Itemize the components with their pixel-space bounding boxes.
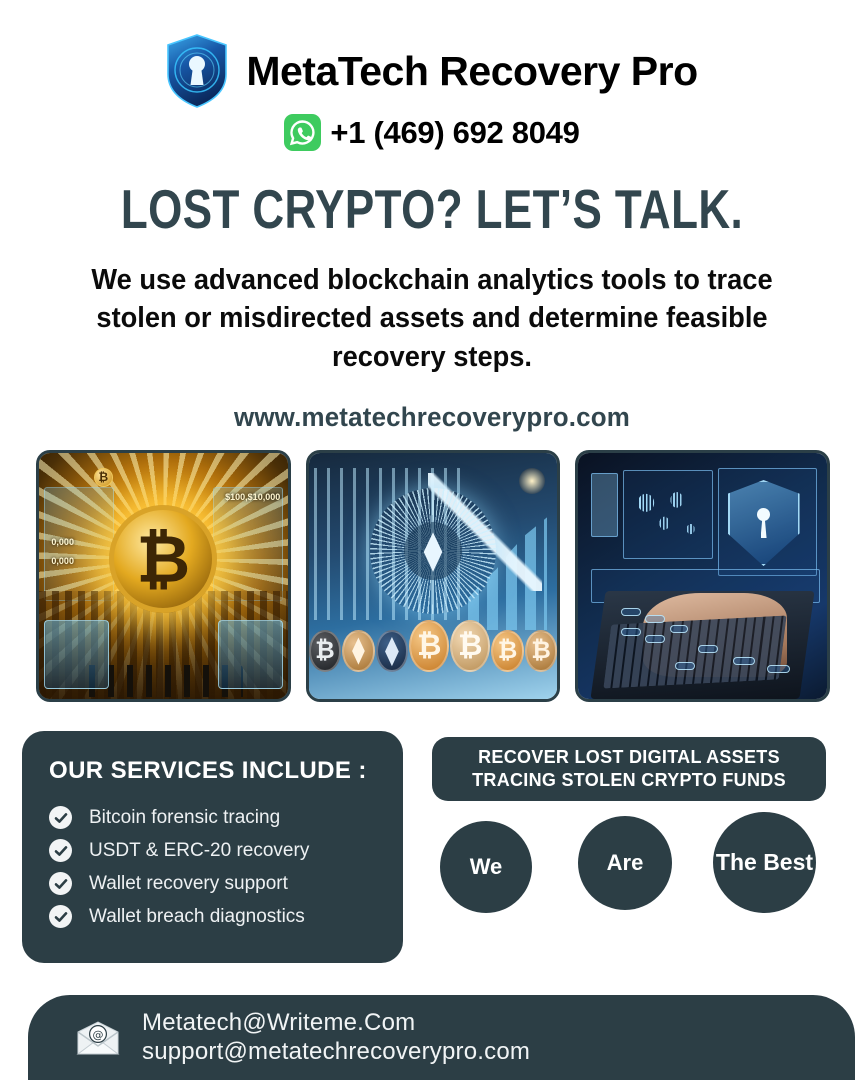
website-url[interactable]: www.metatechrecoverypro.com <box>17 402 846 433</box>
hero-subheading: We use advanced blockchain analytics too… <box>75 261 789 377</box>
price-tag-label: $100,$10,000 <box>225 492 280 502</box>
whatsapp-icon[interactable] <box>284 114 321 151</box>
check-circle-icon <box>49 872 72 895</box>
cybersecurity-scene <box>578 453 827 699</box>
coin-icon: ₿ <box>450 620 490 672</box>
list-item: Wallet recovery support <box>49 872 403 895</box>
service-label: Wallet recovery support <box>89 873 288 895</box>
services-list: Bitcoin forensic tracing USDT & ERC-20 r… <box>49 806 403 928</box>
brand-header: MetaTech Recovery Pro <box>0 0 864 108</box>
banner-line-2: TRACING STOLEN CRYPTO FUNDS <box>472 770 786 791</box>
network-node <box>767 665 789 673</box>
arrow-glow <box>519 468 545 494</box>
poster-root: MetaTech Recovery Pro +1 (469) 692 8049 … <box>0 0 864 1080</box>
network-node <box>621 608 641 616</box>
footer-email-primary[interactable]: Metatech@Writeme.Com <box>142 1009 530 1037</box>
ethereum-digital-ring: ⧫ <box>370 488 496 614</box>
ticker-value-top: 0,000 <box>51 537 74 547</box>
check-circle-icon <box>49 839 72 862</box>
world-map-icon <box>629 478 706 551</box>
world-map-panel <box>623 470 713 559</box>
coin-icon: ₿ <box>409 620 449 672</box>
list-item: USDT & ERC-20 recovery <box>49 839 403 862</box>
footer-contact-bar: @ Metatech@Writeme.Com support@metatechr… <box>28 995 855 1080</box>
check-circle-icon <box>49 806 72 829</box>
network-node <box>675 662 695 670</box>
coin-icon: ₿ <box>491 630 524 672</box>
hero-headline: LOST CRYPTO? LET’S TALK. <box>86 181 777 239</box>
keyhole-glyph <box>756 508 771 538</box>
network-node <box>645 615 665 623</box>
badge-circle-are: Are <box>578 816 672 910</box>
service-label: Bitcoin forensic tracing <box>89 807 280 829</box>
list-item: Bitcoin forensic tracing <box>49 806 403 829</box>
services-title: OUR SERVICES INCLUDE : <box>49 757 403 785</box>
ethereum-symbol-icon: ⧫ <box>404 522 462 580</box>
glass-panel-right <box>218 620 283 689</box>
badge-circle-the-best: The Best <box>713 812 816 913</box>
network-node <box>733 657 755 665</box>
check-circle-icon <box>49 905 72 928</box>
svg-text:@: @ <box>93 1028 104 1041</box>
hud-panel-right <box>213 487 283 600</box>
list-item: Wallet breach diagnostics <box>49 905 403 928</box>
bitcoin-coin-icon: ₿ <box>109 505 217 613</box>
gallery-image-cybersecurity-laptop <box>575 450 830 702</box>
mini-bitcoin-icon: ₿ <box>94 468 113 487</box>
phone-contact-row[interactable]: +1 (469) 692 8049 <box>0 114 864 151</box>
network-node <box>645 635 665 643</box>
service-label: USDT & ERC-20 recovery <box>89 840 309 862</box>
badge-circle-we: We <box>440 821 532 913</box>
network-node <box>670 625 687 633</box>
keyboard-icon <box>604 616 787 689</box>
tagline-banner: RECOVER LOST DIGITAL ASSETS TRACING STOL… <box>432 737 826 801</box>
coin-icon: ₿ <box>525 630 558 672</box>
gallery-image-bitcoin-golden-city: ₿ ₿ 0,000 0,000 $100,$10,000 <box>36 450 291 702</box>
banner-line-1: RECOVER LOST DIGITAL ASSETS <box>478 747 780 768</box>
network-node <box>621 628 641 636</box>
service-label: Wallet breach diagnostics <box>89 906 305 928</box>
golden-bitcoin-scene: ₿ ₿ 0,000 0,000 $100,$10,000 <box>39 453 288 699</box>
gallery-image-ethereum-trading-chart: ⧫ ₿ ⧫ ⧫ ₿ ₿ ₿ ₿ <box>306 450 561 702</box>
ticker-value-bottom: 0,000 <box>51 556 74 566</box>
coin-icon: ⧫ <box>342 630 375 672</box>
hud-panel-small <box>591 473 618 537</box>
crypto-coin-row: ₿ ⧫ ⧫ ₿ ₿ ₿ ₿ <box>309 620 558 672</box>
footer-email-list: Metatech@Writeme.Com support@metatechrec… <box>142 1009 530 1066</box>
footer-email-support[interactable]: support@metatechrecoverypro.com <box>142 1038 530 1066</box>
phone-number[interactable]: +1 (469) 692 8049 <box>330 115 579 151</box>
image-gallery: ₿ ₿ 0,000 0,000 $100,$10,000 ⧫ ₿ <box>36 450 830 702</box>
shield-keyhole-icon <box>166 34 228 108</box>
glass-panel-left <box>44 620 109 689</box>
services-card: OUR SERVICES INCLUDE : Bitcoin forensic … <box>22 731 403 963</box>
email-envelope-icon: @ <box>76 1020 120 1056</box>
coin-icon: ₿ <box>309 630 342 672</box>
ethereum-trading-scene: ⧫ ₿ ⧫ ⧫ ₿ ₿ ₿ ₿ <box>309 453 558 699</box>
page-title: MetaTech Recovery Pro <box>246 48 697 95</box>
coin-icon: ⧫ <box>376 630 409 672</box>
network-node <box>698 645 718 653</box>
